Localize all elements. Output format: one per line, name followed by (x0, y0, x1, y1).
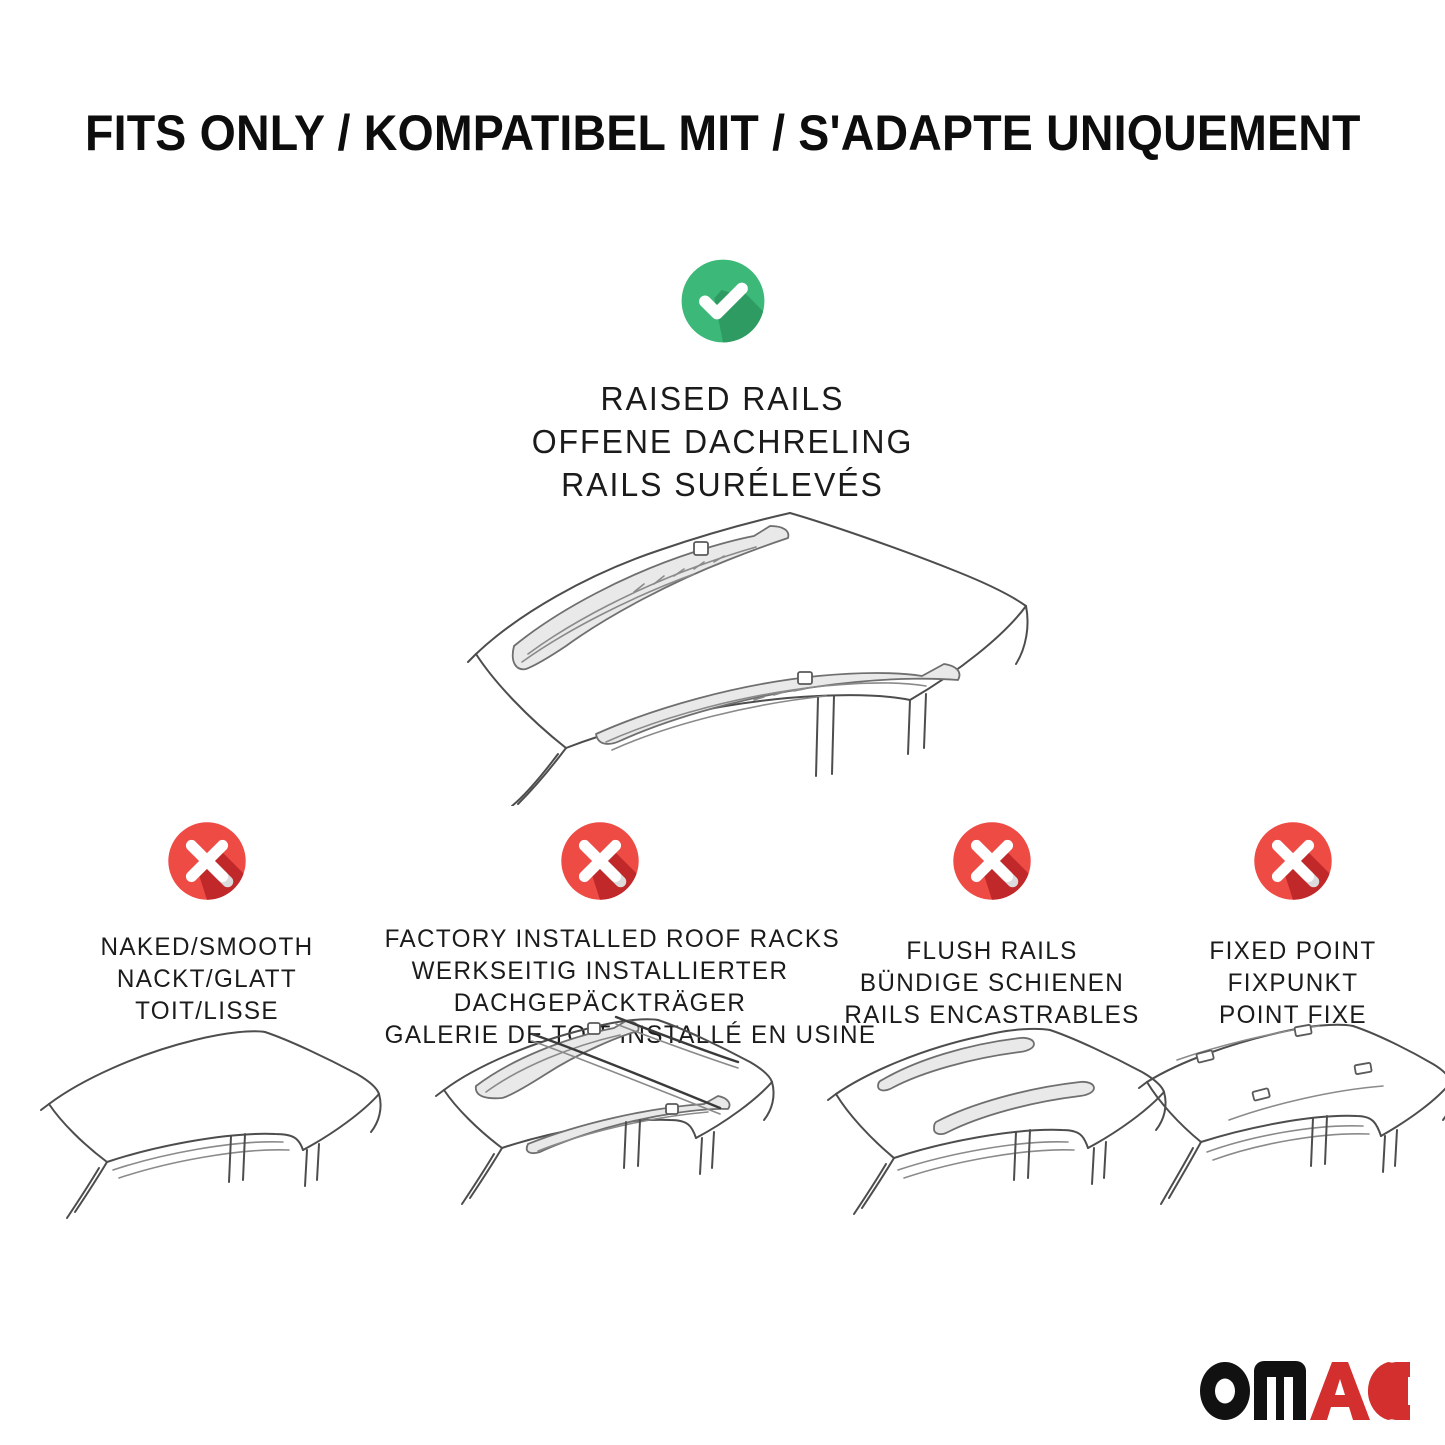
incompatible-label-en: FLUSH RAILS (831, 935, 1153, 967)
page-title-text: FITS ONLY / KOMPATIBEL MIT / S'ADAPTE UN… (85, 104, 1361, 162)
cross-circle-icon (557, 818, 643, 904)
cross-circle-icon (164, 818, 250, 904)
compatible-label-en: RAISED RAILS (22, 378, 1424, 421)
incompatible-label-de-1: WERKSEITIG INSTALLIERTER (385, 955, 816, 987)
cross-circle-icon (949, 818, 1035, 904)
car-roof-fixed-point-illustration (1133, 1014, 1445, 1244)
incompatible-item-fixed-point: FIXED POINT FIXPUNKT POINT FIXE (1162, 818, 1424, 1031)
compatible-section: RAISED RAILS OFFENE DACHRELING RAILS SUR… (0, 255, 1445, 507)
incompatible-label-en: FACTORY INSTALLED ROOF RACKS (385, 923, 816, 955)
cross-circle-icon (1250, 818, 1336, 904)
page-title: FITS ONLY / KOMPATIBEL MIT / S'ADAPTE UN… (0, 104, 1445, 162)
car-roof-flush-rails-illustration (812, 1014, 1172, 1244)
incompatible-label-en: NAKED/SMOOTH (47, 931, 367, 963)
check-circle-icon (677, 255, 769, 347)
incompatible-item-naked-smooth: NAKED/SMOOTH NACKT/GLATT TOIT/LISSE (42, 818, 372, 1027)
incompatible-label-de: BÜNDIGE SCHIENEN (831, 967, 1153, 999)
incompatible-label-de: FIXPUNKT (1166, 967, 1420, 999)
compatible-label-de: OFFENE DACHRELING (22, 421, 1424, 464)
incompatible-label-de: NACKT/GLATT (47, 963, 367, 995)
car-roof-factory-racks-illustration (420, 1004, 780, 1244)
incompatible-item-factory-racks: FACTORY INSTALLED ROOF RACKS WERKSEITIG … (378, 818, 822, 1051)
incompatible-labels: NAKED/SMOOTH NACKT/GLATT TOIT/LISSE (42, 931, 372, 1027)
car-roof-raised-rails-illustration (398, 486, 1058, 806)
incompatible-section: NAKED/SMOOTH NACKT/GLATT TOIT/LISSE (0, 818, 1445, 1268)
incompatible-item-flush-rails: FLUSH RAILS BÜNDIGE SCHIENEN RAILS ENCAS… (826, 818, 1158, 1031)
omac-logo (1198, 1361, 1410, 1421)
incompatible-label-en: FIXED POINT (1166, 935, 1420, 967)
car-roof-naked-smooth-illustration (27, 1014, 387, 1244)
